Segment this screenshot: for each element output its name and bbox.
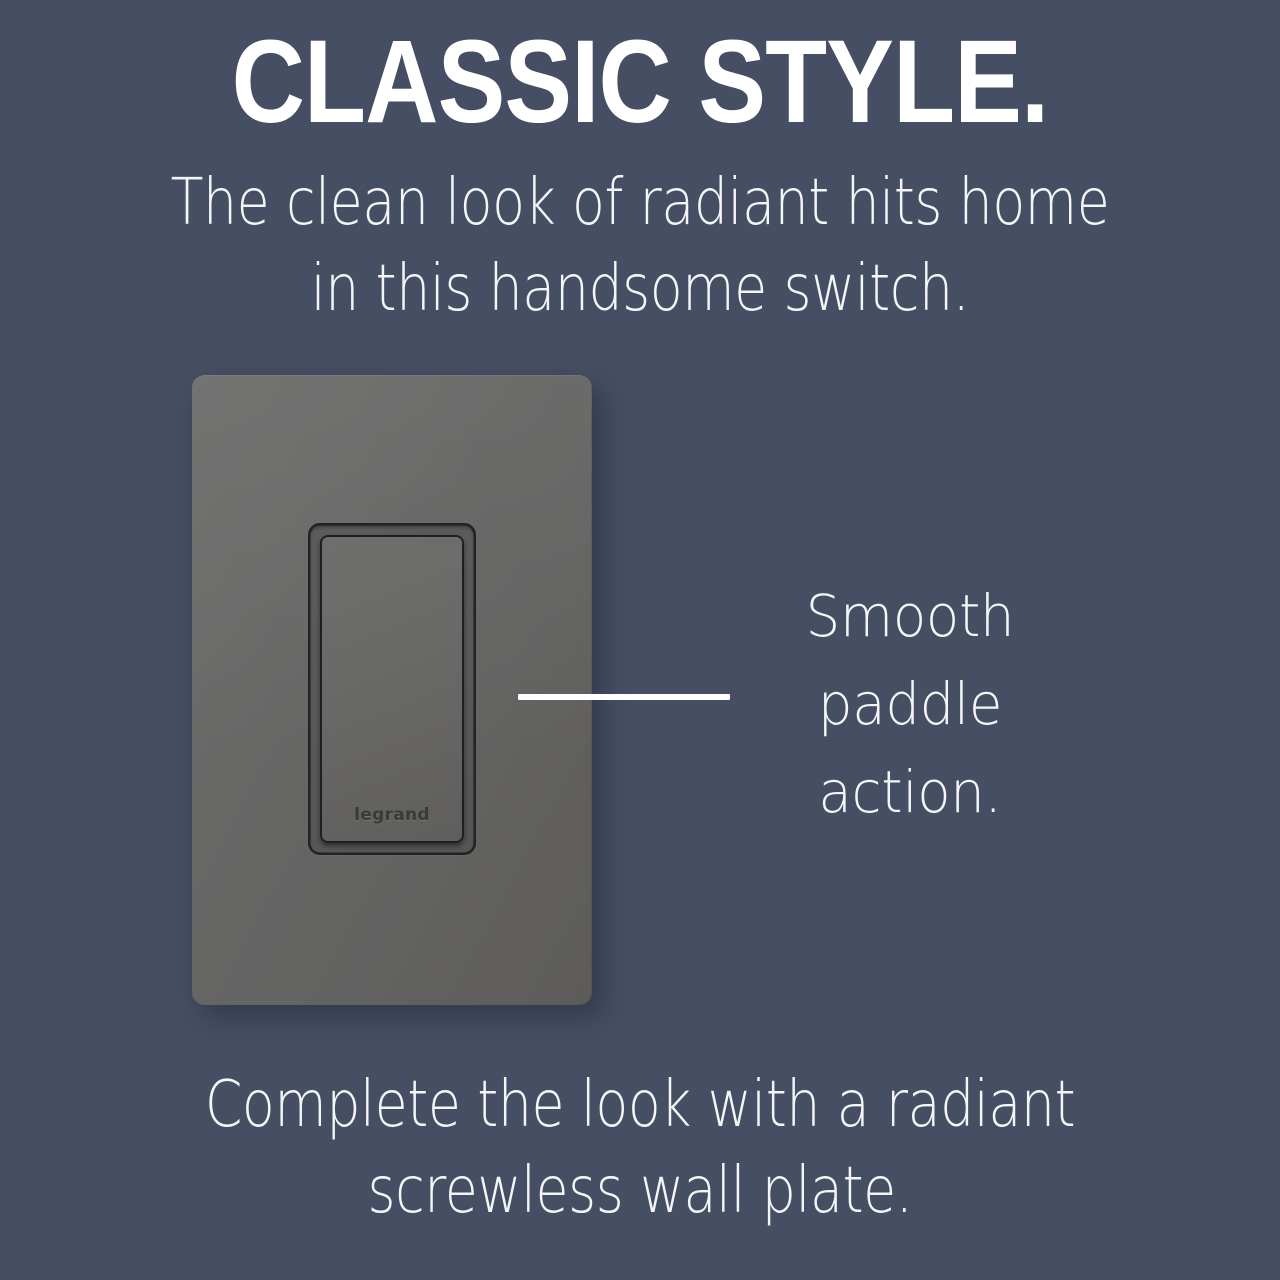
- callout-line-2: paddle: [769, 660, 1051, 748]
- wall-plate: legrand: [192, 375, 592, 1005]
- footer-caption: Complete the look with a radiant screwle…: [136, 1062, 1144, 1234]
- switch-frame: legrand: [308, 523, 476, 855]
- product-image: legrand: [192, 375, 592, 1005]
- callout-label: Smooth paddle action.: [769, 572, 1051, 836]
- callout-leader-line: [518, 694, 730, 700]
- page-title: CLASSIC STYLE.: [90, 22, 1191, 142]
- caption-line-1: Complete the look with a radiant: [136, 1062, 1144, 1148]
- subtitle-line-1: The clean look of radiant hits home: [136, 160, 1144, 246]
- callout-line-3: action.: [769, 748, 1051, 836]
- subtitle-line-2: in this handsome switch.: [136, 246, 1144, 332]
- caption-line-2: screwless wall plate.: [136, 1148, 1144, 1234]
- switch-paddle[interactable]: legrand: [320, 535, 464, 843]
- callout-line-1: Smooth: [769, 572, 1051, 660]
- marketing-graphic: CLASSIC STYLE. The clean look of radiant…: [0, 0, 1280, 1280]
- subtitle: The clean look of radiant hits home in t…: [136, 160, 1144, 332]
- legrand-brand-label: legrand: [320, 805, 464, 825]
